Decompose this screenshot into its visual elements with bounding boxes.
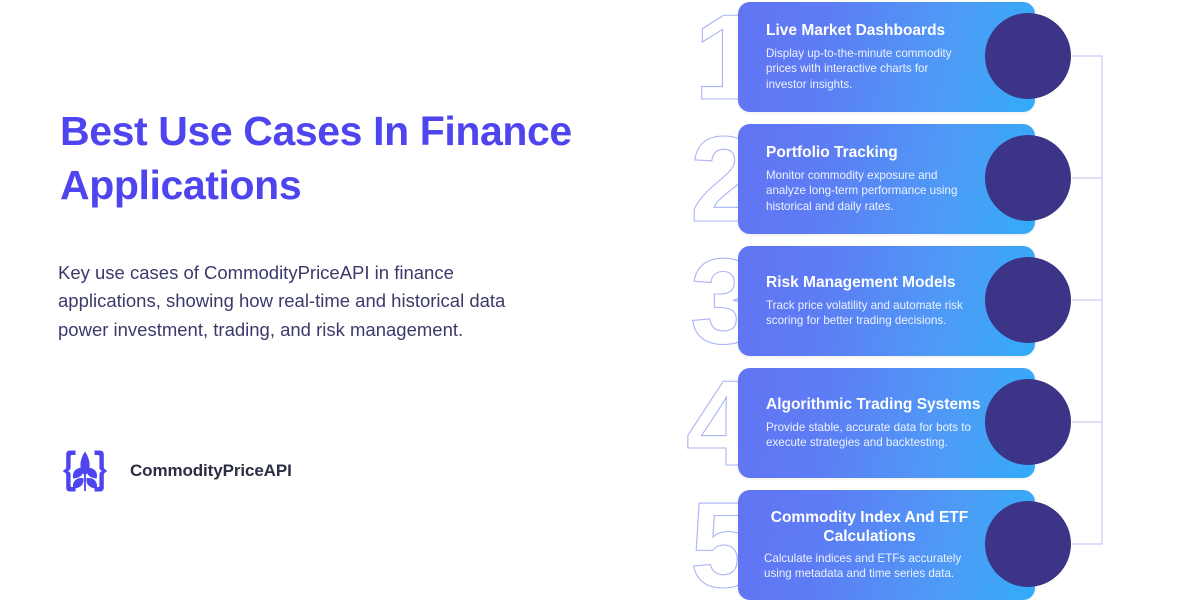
card-accent-circle-4 xyxy=(985,379,1071,465)
card-description: Provide stable, accurate data for bots t… xyxy=(766,420,971,451)
page-description: Key use cases of CommodityPriceAPI in fi… xyxy=(58,259,558,344)
page-title: Best Use Cases In Finance Applications xyxy=(60,104,630,212)
left-panel: Best Use Cases In Finance Applications K… xyxy=(0,0,690,600)
card-accent-circle-2 xyxy=(985,135,1071,221)
card-title: Live Market Dashboards xyxy=(766,22,1023,41)
card-title: Algorithmic Trading Systems xyxy=(766,396,1023,415)
card-description: Display up-to-the-minute commodity price… xyxy=(766,46,971,92)
card-description: Calculate indices and ETFs accurately us… xyxy=(764,551,975,582)
card-layer: Live Market Dashboards Display up-to-the… xyxy=(690,0,1200,600)
card-description: Track price volatility and automate risk… xyxy=(766,298,971,329)
card-accent-circle-3 xyxy=(985,257,1071,343)
wheat-braces-logo-icon xyxy=(58,444,112,498)
brand-name: CommodityPriceAPI xyxy=(130,461,292,481)
card-title: Commodity Index And ETF Calculations xyxy=(764,509,975,547)
use-case-list: 1 2 3 4 5 Live Market Dashboards Display… xyxy=(690,0,1200,600)
card-accent-circle-5 xyxy=(985,501,1071,587)
brand-logo: CommodityPriceAPI xyxy=(58,444,292,498)
card-title: Portfolio Tracking xyxy=(766,144,1023,163)
card-title: Risk Management Models xyxy=(766,274,1023,293)
infographic-page: Best Use Cases In Finance Applications K… xyxy=(0,0,1200,600)
card-accent-circle-1 xyxy=(985,13,1071,99)
card-description: Monitor commodity exposure and analyze l… xyxy=(766,168,971,214)
